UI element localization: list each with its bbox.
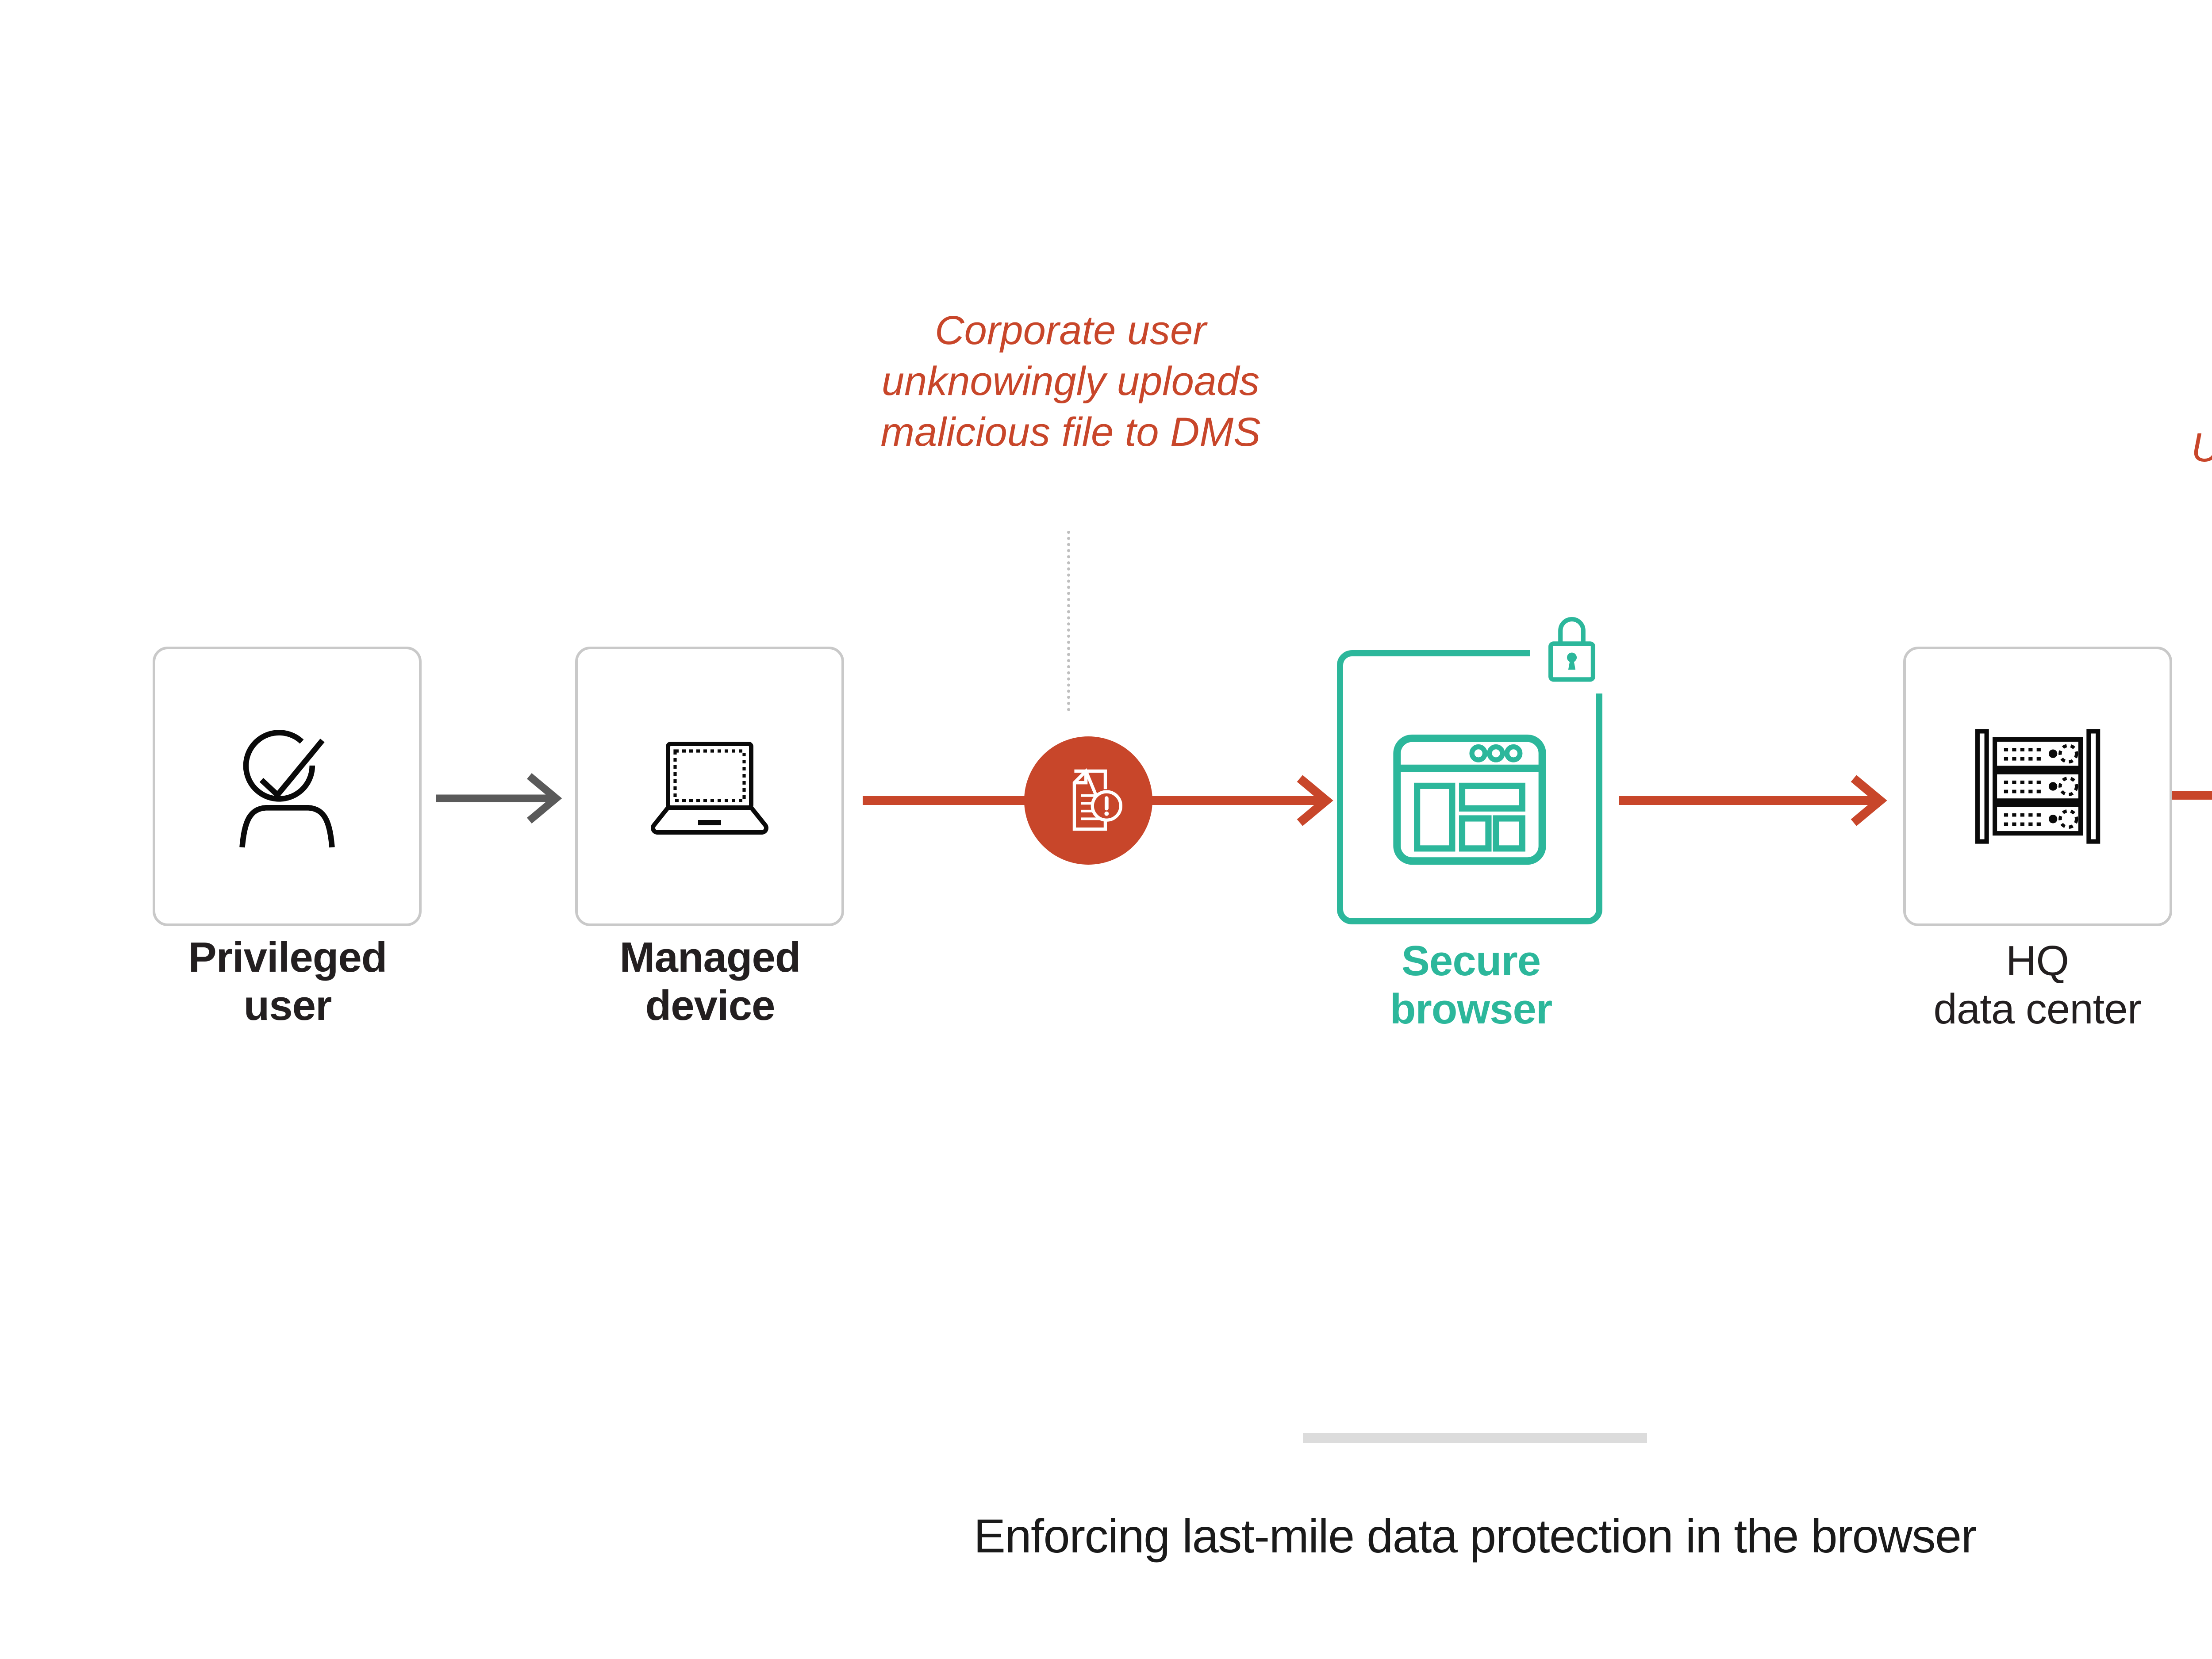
node-label-secure-browser: Secure browser (1203, 937, 1739, 1034)
browser-window-icon (1337, 674, 1602, 924)
user-check-icon (153, 647, 422, 926)
malicious-file-badge[interactable] (1024, 736, 1152, 865)
laptop-icon (575, 647, 844, 926)
connector-user-to-device (436, 765, 568, 831)
leader-line-malicious-upload (1067, 531, 1070, 711)
caption-divider (1303, 1433, 1647, 1443)
annotation-upload-blocked: Upload blocked (2110, 422, 2212, 473)
node-managed-device[interactable] (575, 647, 844, 926)
annotation-malicious-upload: Corporate user unknowingly uploads malic… (779, 305, 1363, 458)
node-privileged-user[interactable] (153, 647, 422, 926)
diagram-canvas: Corporate user unknowingly uploads malic… (0, 0, 2212, 1659)
server-rack-icon (1903, 647, 2172, 926)
connector-browser-to-hq (1619, 770, 1893, 831)
node-hq-data-center[interactable] (1903, 647, 2172, 926)
document-warning-icon (1050, 762, 1127, 839)
padlock-icon (1530, 607, 1614, 693)
node-label-hq-data-center: HQ data center (1770, 937, 2212, 1034)
caption-text: Enforcing last-mile data protection in t… (0, 1508, 2212, 1563)
node-label-managed-device: Managed device (442, 933, 978, 1030)
